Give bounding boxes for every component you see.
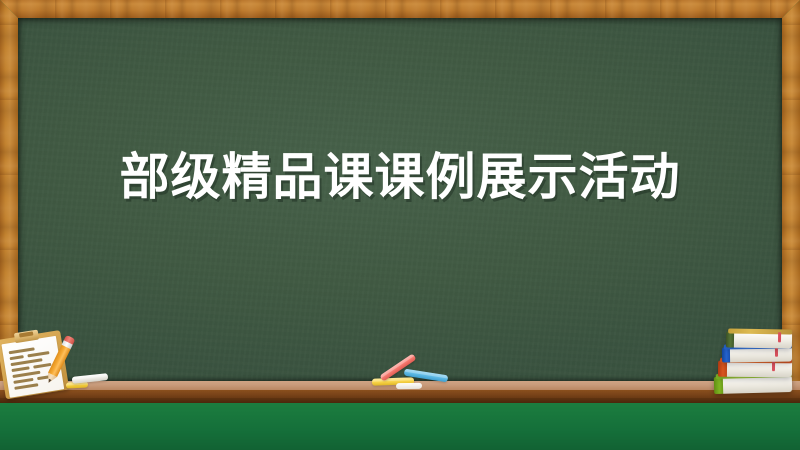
chalk-white-center <box>396 383 422 389</box>
paper-text-line <box>14 383 38 389</box>
book-stack <box>714 332 794 394</box>
paper-text-line <box>13 378 33 384</box>
paper-text-line <box>12 371 40 378</box>
book-spine <box>718 361 727 377</box>
book-top-olive <box>726 331 792 348</box>
book-bottom-green <box>714 375 792 394</box>
frame-top <box>0 0 800 18</box>
paper-text-line <box>11 366 29 371</box>
ledge-bottom-lip <box>0 398 800 403</box>
paper-text-line <box>10 355 24 360</box>
book-bookmark <box>778 332 781 342</box>
book-spine <box>714 377 723 394</box>
book-spine <box>722 347 730 362</box>
paper-text-line <box>33 363 51 368</box>
ledge-front-face <box>0 390 800 398</box>
slide-scene: 部级精品课课例展示活动 <box>0 0 800 450</box>
slide-title: 部级精品课课例展示活动 <box>0 148 800 206</box>
lower-green-background <box>0 398 800 450</box>
book-bookmark <box>772 361 775 371</box>
book-blue <box>722 347 792 363</box>
book-orange <box>718 361 792 378</box>
paper-text-line <box>27 351 49 357</box>
